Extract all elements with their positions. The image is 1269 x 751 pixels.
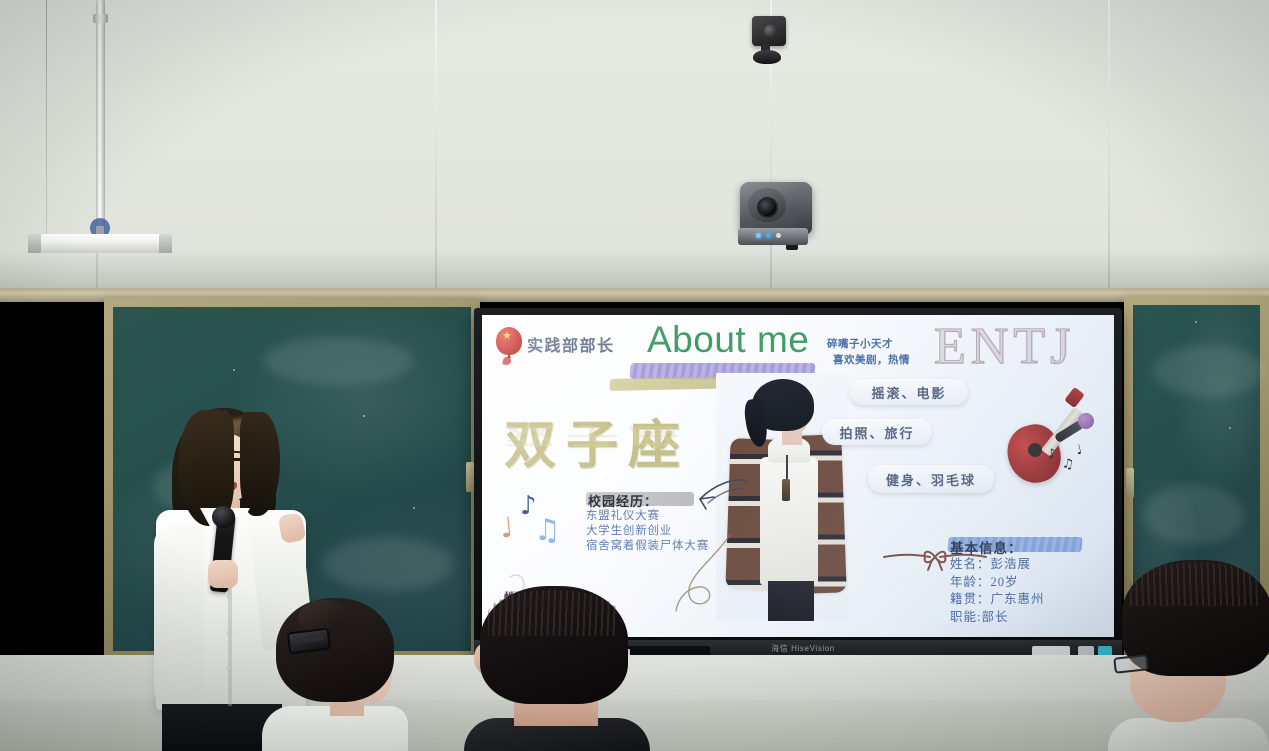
chalk-speck	[233, 369, 235, 371]
tagline-line-2: 喜欢美剧，热情	[833, 353, 947, 369]
slide-title: About me	[647, 319, 809, 361]
ptz-camera-arm	[798, 186, 812, 228]
basic-info-row-name: 姓名：彭浩展	[950, 556, 1045, 574]
basic-info-list: 姓名：彭浩展 年龄：20岁 籍贯：广东惠州 职能:部长	[950, 556, 1045, 626]
experience-heading: 校园经历：	[588, 491, 658, 510]
experience-item: 东盟礼仪大赛	[586, 509, 709, 524]
ceiling-light-icon	[28, 234, 172, 253]
status-led	[756, 233, 761, 238]
ptz-camera-head	[748, 188, 786, 222]
wall-camera-small-icon	[752, 16, 786, 46]
shirt-button	[227, 594, 232, 599]
hair-texture	[1130, 562, 1262, 606]
student-foreground-left	[272, 598, 404, 751]
necklace-pendant-icon	[782, 479, 790, 501]
chalk-speck	[1195, 321, 1197, 323]
chalk-smudge	[1143, 485, 1243, 545]
light-bar-end	[159, 234, 172, 253]
hobby-pill: 健身、羽毛球	[868, 465, 994, 493]
student-right	[1108, 560, 1269, 751]
status-led	[776, 233, 781, 238]
necklace-chain	[786, 455, 788, 481]
shirt-button	[227, 666, 232, 671]
ptz-camera-lens-icon	[757, 197, 778, 218]
photo-torso	[760, 457, 818, 585]
zodiac-reflection: 双子座	[504, 421, 690, 455]
student-body	[1108, 718, 1269, 751]
presenter-arm-left	[154, 526, 204, 702]
music-note-icon: ♩	[1074, 442, 1084, 458]
chalk-smudge	[263, 337, 413, 385]
guitar-icon: ♪ ♫ ♩	[1006, 385, 1112, 491]
photo-pants	[768, 581, 814, 621]
music-note-icon: ♫	[534, 513, 561, 548]
shirt-button	[227, 630, 232, 635]
status-led	[766, 233, 771, 238]
classroom-scene: ★ 实践部部长 About me 碎嘴子小天才 喜欢美剧，热情 ENTJ 双子座…	[0, 0, 1269, 751]
ceiling-wire	[46, 0, 47, 240]
ptz-camera-icon	[740, 182, 812, 234]
mbti-type: ENTJ	[934, 317, 1075, 376]
basic-info-row-hometown: 籍贯：广东惠州	[950, 591, 1045, 609]
music-note-icon: ♫	[1061, 456, 1075, 472]
board-latch[interactable]	[1126, 468, 1134, 498]
tagline-line-1: 碎嘴子小天才	[827, 339, 893, 350]
chalk-speck	[413, 507, 415, 509]
presenter-hand-left	[208, 560, 238, 588]
camera-base	[753, 50, 781, 64]
department-label: 实践部部长	[527, 332, 615, 356]
balloon-body: ★	[496, 327, 522, 355]
balloon-icon: ★	[496, 327, 522, 361]
balloon-tail	[502, 356, 511, 365]
wall-seam	[1108, 0, 1110, 288]
basic-info-heading: 基本信息：	[950, 537, 1023, 557]
star-icon: ★	[502, 331, 512, 342]
hobby-pill: 拍照、旅行	[822, 419, 932, 445]
swirl-doodle-icon	[670, 533, 740, 613]
board-latch[interactable]	[466, 462, 474, 492]
music-note-icon: ♩	[498, 510, 515, 544]
pole-collar	[93, 14, 108, 23]
basic-info-row-age: 年龄：20岁	[950, 574, 1045, 592]
tagline: 碎嘴子小天才 喜欢美剧，热情	[827, 337, 947, 369]
light-pole	[96, 0, 105, 226]
hobby-pill: 摇滚、电影	[850, 379, 968, 405]
wall-seam	[435, 0, 437, 288]
chalk-speck	[363, 415, 365, 417]
camera-lens-icon	[764, 25, 777, 38]
student-foreground-center	[470, 586, 638, 751]
chalk-speck	[1229, 427, 1231, 429]
ptz-camera-base	[738, 228, 808, 245]
guitar-headstock	[1064, 387, 1085, 408]
light-bar-end	[28, 234, 41, 253]
basic-info-row-role: 职能:部长	[950, 609, 1045, 627]
display-brand-label: 海信 HiseVision	[748, 643, 858, 654]
microphone-icon	[1078, 413, 1094, 429]
chalk-smudge	[1153, 345, 1263, 397]
hair-texture	[488, 590, 618, 636]
